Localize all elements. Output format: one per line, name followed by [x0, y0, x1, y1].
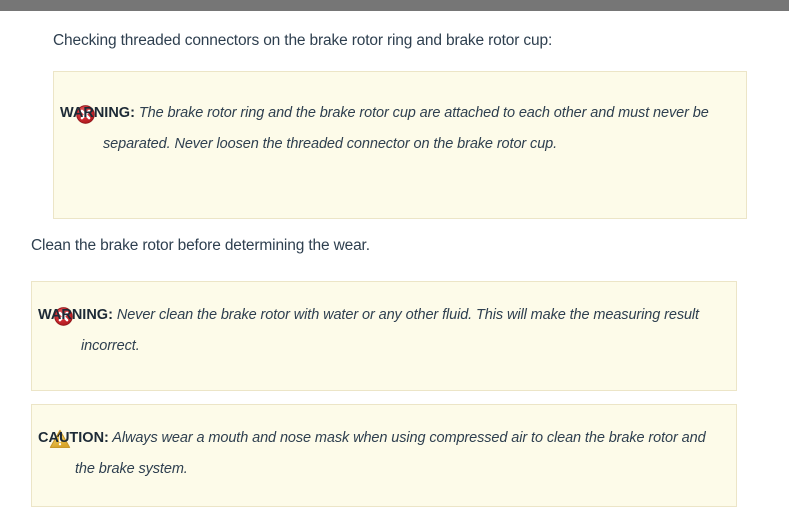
- document-content-area: Checking threaded connectors on the brak…: [0, 11, 789, 525]
- warning-box-2-message: Never clean the brake rotor with water o…: [81, 307, 699, 354]
- caution-box-1-message: Always wear a mouth and nose mask when u…: [75, 430, 706, 477]
- window-title-bar: [0, 0, 789, 11]
- paragraph-intro: Checking threaded connectors on the brak…: [53, 31, 552, 51]
- warning-box-2-text: WARNING: Never clean the brake rotor wit…: [81, 300, 716, 362]
- warning-box-1: WARNING: The brake rotor ring and the br…: [53, 71, 747, 219]
- warning-box-1-text: WARNING: The brake rotor ring and the br…: [103, 98, 723, 160]
- caution-box-1-label: CAUTION:: [38, 430, 109, 446]
- caution-box-1: CAUTION: Always wear a mouth and nose ma…: [31, 404, 737, 507]
- warning-box-2-label: WARNING:: [38, 307, 113, 323]
- caution-box-1-text: CAUTION: Always wear a mouth and nose ma…: [75, 423, 720, 485]
- warning-box-2: WARNING: Never clean the brake rotor wit…: [31, 281, 737, 391]
- warning-box-1-label: WARNING:: [60, 105, 135, 121]
- warning-box-1-message: The brake rotor ring and the brake rotor…: [103, 105, 709, 152]
- paragraph-clean: Clean the brake rotor before determining…: [31, 236, 370, 256]
